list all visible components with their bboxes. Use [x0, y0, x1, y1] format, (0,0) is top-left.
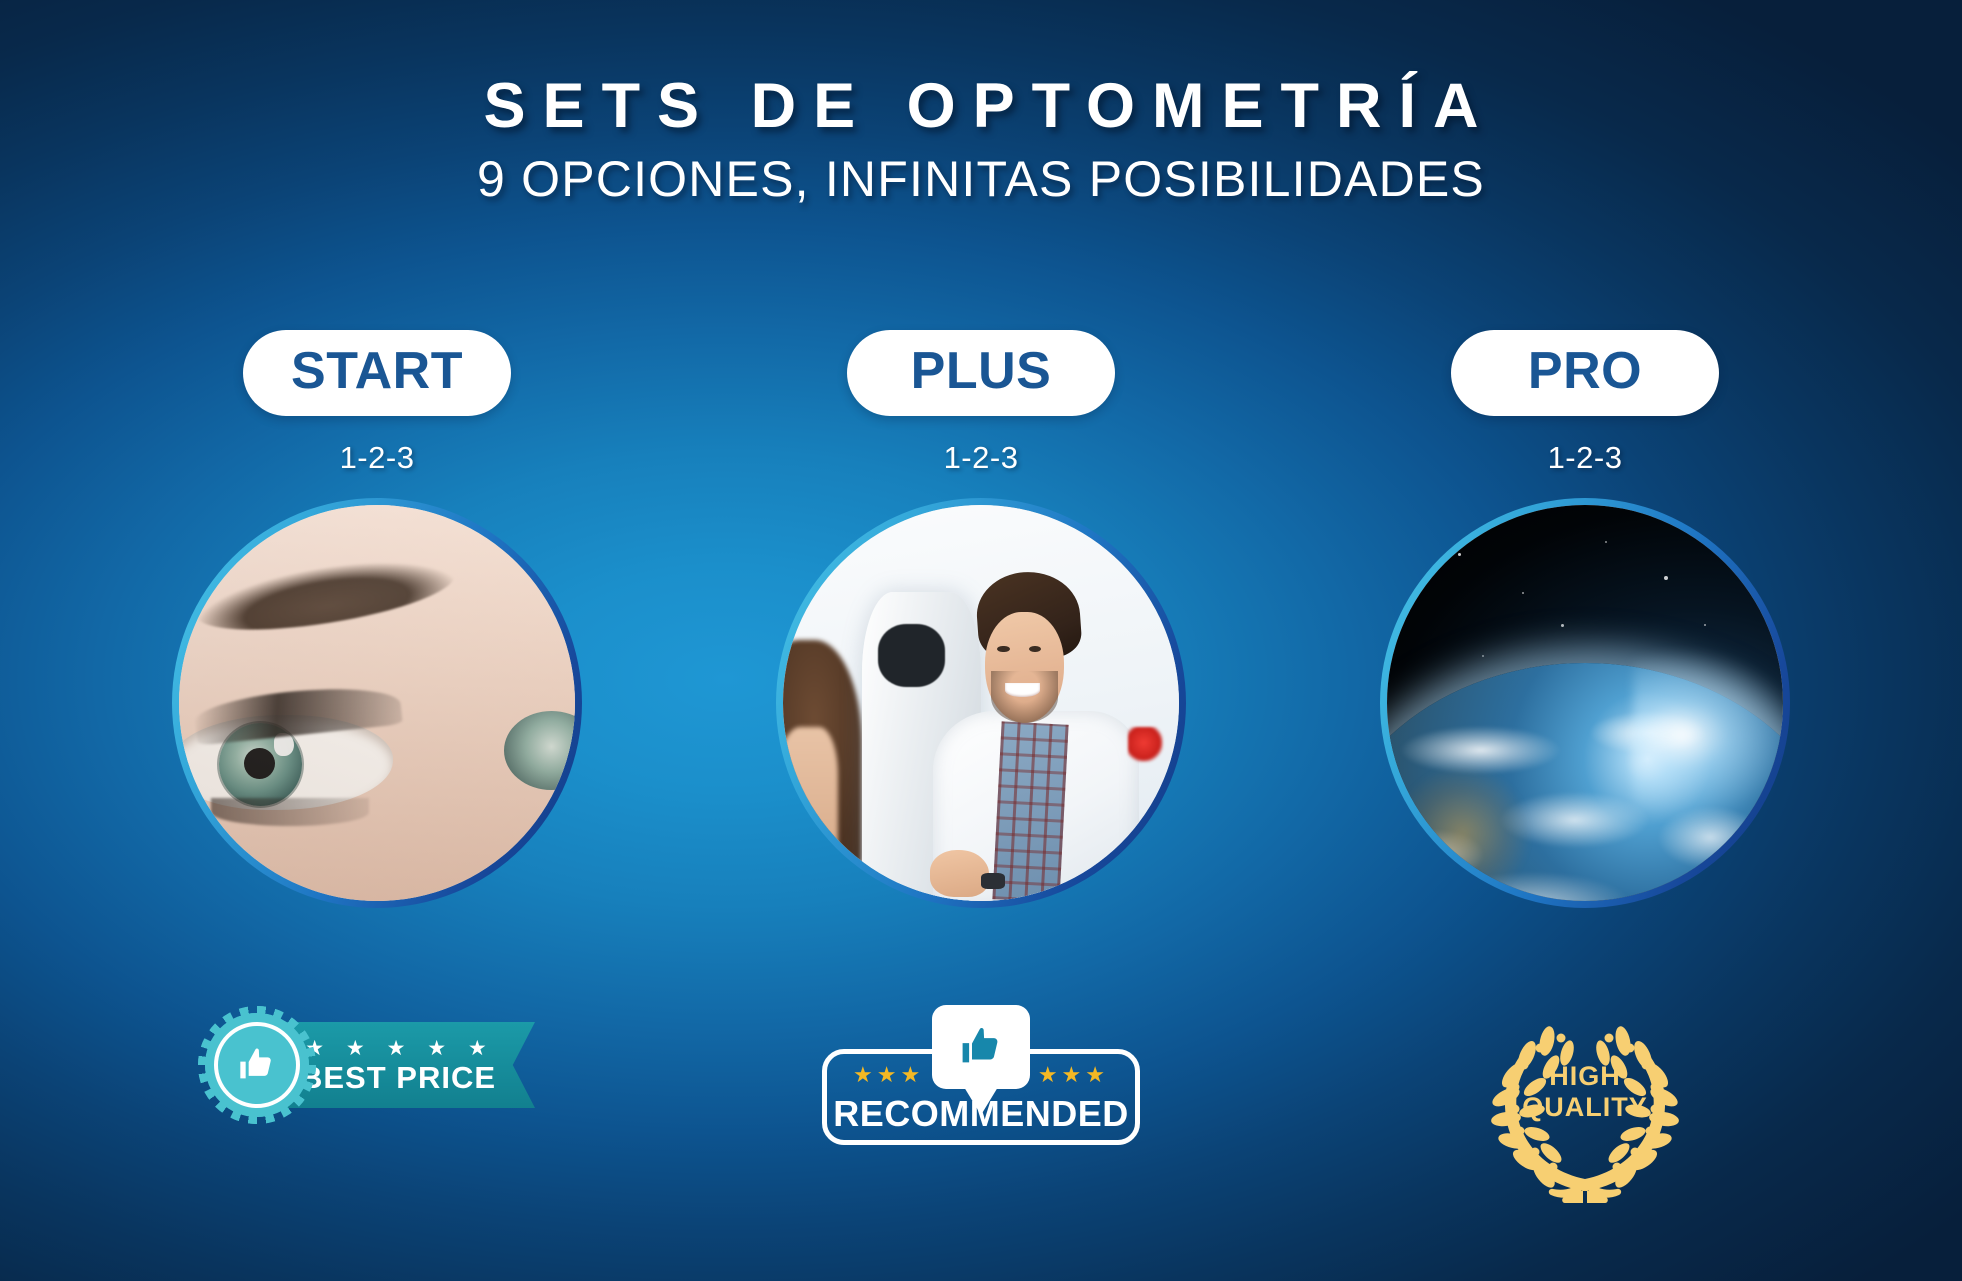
tier-pill-pro[interactable]: PRO	[1451, 330, 1719, 416]
high-quality-label: HIGH QUALITY	[1465, 1061, 1705, 1124]
tier-image-pro	[1387, 505, 1783, 901]
best-price-badge: ★ ★ ★ ★ ★ BEST PRICE	[205, 1005, 535, 1125]
tier-code-pro: 1-2-3	[1548, 440, 1623, 476]
tier-image-ring-start	[172, 498, 582, 908]
optometrist-photo	[783, 505, 1179, 901]
page-subtitle: 9 OPCIONES, INFINITAS POSIBILIDADES	[0, 152, 1962, 207]
tier-code-plus: 1-2-3	[944, 440, 1019, 476]
high-quality-line1: HIGH	[1465, 1061, 1705, 1092]
tier-pill-plus[interactable]: PLUS	[847, 330, 1115, 416]
recommended-badge: ★★★ ★★★ RECOMMENDED	[822, 1005, 1140, 1153]
badge-col-start: ★ ★ ★ ★ ★ BEST PRICE	[75, 1005, 679, 1205]
tier-column-pro[interactable]: PRO 1-2-3	[1283, 330, 1887, 908]
earth-photo	[1387, 505, 1783, 901]
best-price-label: BEST PRICE	[296, 1062, 496, 1093]
recommended-stars-left: ★★★	[853, 1064, 924, 1086]
thumbs-up-icon	[958, 1024, 1004, 1070]
tier-image-start	[179, 505, 575, 901]
tier-image-ring-plus	[776, 498, 1186, 908]
eye-photo	[179, 505, 575, 901]
high-quality-line2: QUALITY	[1465, 1092, 1705, 1123]
best-price-seal	[205, 1013, 309, 1117]
tier-pill-start[interactable]: START	[243, 330, 511, 416]
page-title: SETS DE OPTOMETRÍA	[0, 74, 1962, 138]
tier-column-start[interactable]: START 1-2-3	[75, 330, 679, 908]
thumbs-up-icon	[237, 1045, 277, 1085]
badge-col-plus: ★★★ ★★★ RECOMMENDED	[679, 1005, 1283, 1205]
badges-row: ★ ★ ★ ★ ★ BEST PRICE ★★★ ★	[0, 1005, 1962, 1205]
high-quality-badge: HIGH QUALITY	[1465, 1005, 1705, 1205]
promo-banner: SETS DE OPTOMETRÍA 9 OPCIONES, INFINITAS…	[0, 0, 1962, 1281]
recommended-bubble	[932, 1005, 1030, 1089]
recommended-stars-right: ★★★	[1038, 1064, 1109, 1086]
tier-column-plus[interactable]: PLUS 1-2-3	[679, 330, 1283, 908]
tier-image-plus	[783, 505, 1179, 901]
tier-columns: START 1-2-3 PL	[0, 330, 1962, 908]
tier-code-start: 1-2-3	[340, 440, 415, 476]
tier-image-ring-pro	[1380, 498, 1790, 908]
header-block: SETS DE OPTOMETRÍA 9 OPCIONES, INFINITAS…	[0, 74, 1962, 207]
badge-col-pro: HIGH QUALITY	[1283, 1005, 1887, 1205]
best-price-stars: ★ ★ ★ ★ ★	[297, 1038, 494, 1059]
